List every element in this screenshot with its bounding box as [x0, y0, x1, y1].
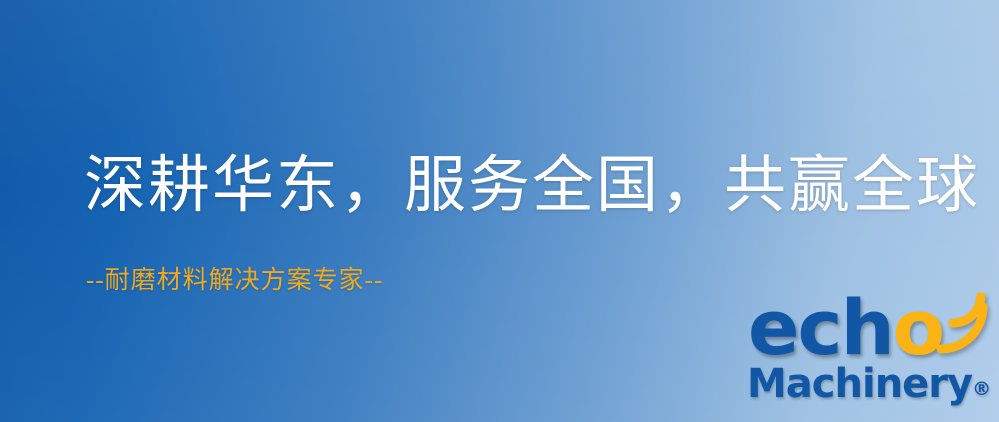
company-logo[interactable]: echo Machinery® — [744, 296, 996, 418]
registered-trademark-icon: ® — [972, 378, 991, 400]
logo-echo-text: echo — [748, 290, 943, 366]
banner-subtitle: --耐磨材料解决方案专家-- — [86, 266, 383, 296]
wifi-arcs-icon — [927, 293, 997, 355]
logo-tagline-text: Machinery — [747, 361, 972, 407]
logo-wordmark: echo — [744, 296, 996, 370]
logo-tagline: Machinery® — [747, 364, 991, 404]
banner-headline: 深耕华东，服务全国，共赢全球 — [84, 152, 980, 221]
hero-banner: 深耕华东，服务全国，共赢全球 --耐磨材料解决方案专家-- echo Machi… — [0, 0, 999, 422]
logo-echo-primary: ech — [748, 283, 893, 372]
